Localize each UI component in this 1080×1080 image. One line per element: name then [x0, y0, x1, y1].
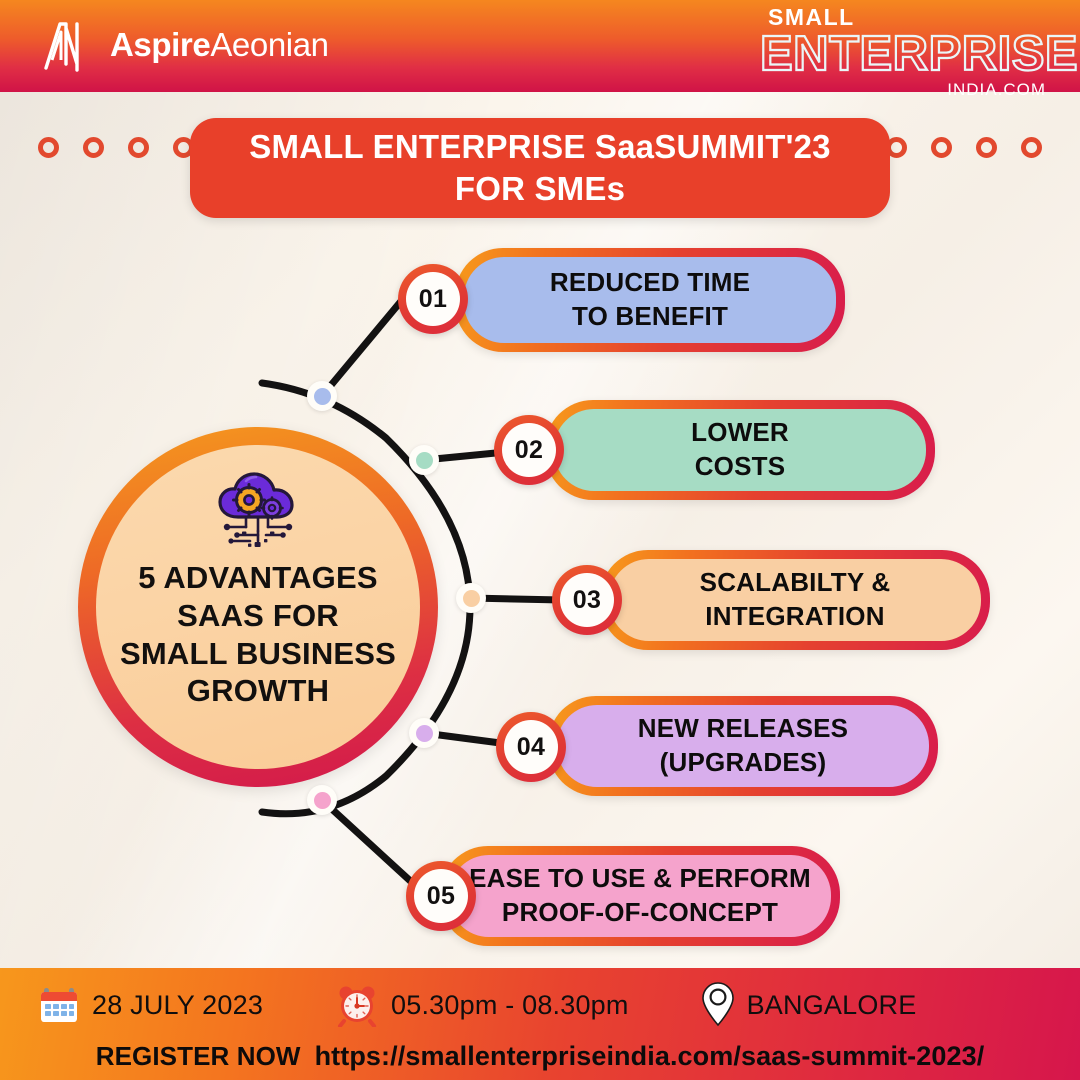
calendar-icon [38, 984, 80, 1026]
advantage-line-2: COSTS [695, 450, 786, 484]
advantage-line-2: (UPGRADES) [660, 746, 827, 780]
advantage-number-05: 05 [414, 869, 468, 923]
footer-bar: 28 JULY 2023 [0, 968, 1080, 1080]
advantage-card-body: NEW RELEASES (UPGRADES) [557, 705, 929, 787]
advantage-number-02: 02 [502, 423, 556, 477]
advantage-number-03: 03 [560, 573, 614, 627]
connector-dot-02 [409, 445, 439, 475]
register-label: REGISTER NOW [96, 1041, 301, 1072]
advantage-line-2: INTEGRATION [705, 600, 884, 634]
se-logo-line-domain: INDIA.COM [760, 81, 1046, 98]
advantage-number-04: 04 [504, 720, 558, 774]
event-time-text: 05.30pm - 08.30pm [391, 990, 629, 1021]
connector-dot-04 [409, 718, 439, 748]
aspire-aeonian-logo[interactable]: AspireAeonian [36, 14, 329, 76]
center-node: 5 ADVANTAGES SAAS FOR SMALL BUSINESS GRO… [78, 427, 438, 787]
advantage-line-1: EASE TO USE & PERFORM [469, 862, 811, 896]
connector-dot-core [416, 452, 433, 469]
advantage-card-body: LOWER COSTS [554, 409, 926, 491]
connector-dot-03 [456, 583, 486, 613]
advantage-number-badge-01[interactable]: 01 [398, 264, 468, 334]
cloud-gears-circuit-icon [212, 469, 304, 553]
advantage-line-1: REDUCED TIME [550, 266, 750, 300]
ring-dot-icon [1021, 137, 1042, 158]
advantage-number-01: 01 [406, 272, 460, 326]
advantage-card-03[interactable]: SCALABILTY & INTEGRATION [600, 550, 990, 650]
title-banner: SMALL ENTERPRISE SaaSUMMIT'23 FOR SMEs [190, 118, 890, 218]
brand-bold: Aspire [110, 26, 210, 63]
event-location: BANGALORE [701, 981, 917, 1029]
decor-dots-right [886, 137, 1042, 158]
connector-dot-core [416, 725, 433, 742]
small-enterprise-india-logo[interactable]: SMALL ENTERPRISE INDIA.COM [760, 6, 1050, 98]
alarm-clock-icon [335, 983, 379, 1027]
event-date: 28 JULY 2023 [38, 984, 263, 1026]
ring-dot-icon [931, 137, 952, 158]
ring-dot-icon [128, 137, 149, 158]
map-pin-icon [701, 981, 735, 1029]
title-line-1: SMALL ENTERPRISE SaaSUMMIT'23 [249, 126, 830, 168]
ring-dot-icon [38, 137, 59, 158]
register-url-link[interactable]: https://smallenterpriseindia.com/saas-su… [315, 1041, 985, 1072]
advantage-card-04[interactable]: NEW RELEASES (UPGRADES) [548, 696, 938, 796]
advantage-number-badge-05[interactable]: 05 [406, 861, 476, 931]
advantage-card-05[interactable]: EASE TO USE & PERFORM PROOF-OF-CONCEPT [440, 846, 840, 946]
advantage-card-body: REDUCED TIME TO BENEFIT [464, 257, 836, 343]
advantage-line-1: NEW RELEASES [638, 712, 848, 746]
brand-wordmark: AspireAeonian [110, 26, 329, 64]
event-location-text: BANGALORE [747, 990, 917, 1021]
advantage-line-1: LOWER [691, 416, 789, 450]
title-line-2: FOR SMEs [455, 168, 625, 210]
se-logo-line-small: SMALL [768, 6, 1050, 29]
ring-dot-icon [83, 137, 104, 158]
connector-dot-core [463, 590, 480, 607]
advantage-card-body: SCALABILTY & INTEGRATION [609, 559, 981, 641]
center-heading: 5 ADVANTAGES SAAS FOR SMALL BUSINESS GRO… [120, 559, 396, 710]
poster-canvas: AspireAeonian SMALL ENTERPRISE INDIA.COM… [0, 0, 1080, 1080]
advantage-card-01[interactable]: REDUCED TIME TO BENEFIT [455, 248, 845, 352]
connector-dot-01 [307, 381, 337, 411]
decor-dots-left [38, 137, 194, 158]
advantage-card-body: EASE TO USE & PERFORM PROOF-OF-CONCEPT [449, 855, 831, 937]
connector-dot-core [314, 792, 331, 809]
connector-dot-05 [307, 785, 337, 815]
event-date-text: 28 JULY 2023 [92, 990, 263, 1021]
advantage-number-badge-04[interactable]: 04 [496, 712, 566, 782]
advantage-line-1: SCALABILTY & [700, 566, 891, 600]
event-time: 05.30pm - 08.30pm [335, 983, 629, 1027]
header-bar: AspireAeonian SMALL ENTERPRISE INDIA.COM [0, 0, 1080, 92]
connector-dot-core [314, 388, 331, 405]
footer-details-row: 28 JULY 2023 [0, 977, 1080, 1033]
footer-register-row: REGISTER NOW https://smallenterpriseindi… [0, 1041, 1080, 1072]
advantage-line-2: PROOF-OF-CONCEPT [502, 896, 778, 930]
advantage-number-badge-03[interactable]: 03 [552, 565, 622, 635]
advantage-number-badge-02[interactable]: 02 [494, 415, 564, 485]
ring-dot-icon [976, 137, 997, 158]
advantage-card-02[interactable]: LOWER COSTS [545, 400, 935, 500]
aspire-monogram-icon [36, 14, 98, 76]
advantage-line-2: TO BENEFIT [572, 300, 728, 334]
se-logo-line-enterprise: ENTERPRISE [760, 30, 1050, 79]
center-node-inner: 5 ADVANTAGES SAAS FOR SMALL BUSINESS GRO… [96, 445, 420, 769]
brand-light: Aeonian [210, 26, 328, 63]
